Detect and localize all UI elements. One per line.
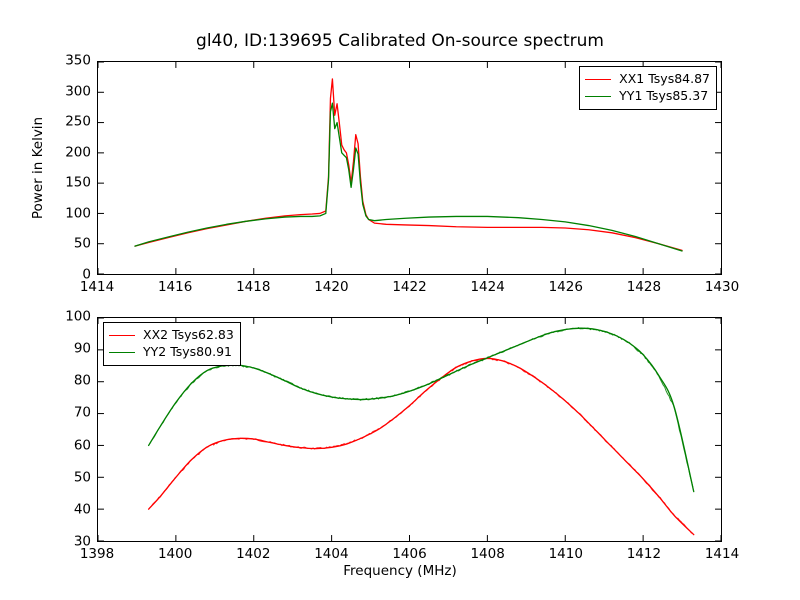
x-tick-label: 1400 xyxy=(145,548,205,562)
x-tick-label: 1430 xyxy=(692,281,752,295)
x-tick-label: 1402 xyxy=(223,548,283,562)
y-tick-label: 200 xyxy=(45,146,91,160)
bottom-panel-legend: XX2 Tsys62.83YY2 Tsys80.91 xyxy=(103,322,241,366)
x-tick-label: 1422 xyxy=(380,281,440,295)
x-tick-label: 1418 xyxy=(223,281,283,295)
figure-title: gl40, ID:139695 Calibrated On-source spe… xyxy=(0,31,800,51)
y-tick-label: 300 xyxy=(45,85,91,99)
x-tick-label: 1414 xyxy=(692,548,752,562)
x-tick-label: 1424 xyxy=(458,281,518,295)
bottom-panel-xlabel: Frequency (MHz) xyxy=(0,563,800,579)
y-tick-label: 90 xyxy=(45,342,91,356)
x-tick-label: 1406 xyxy=(380,548,440,562)
top-panel-ylabel: Power in Kelvin xyxy=(30,78,46,258)
y-tick-label: 60 xyxy=(45,439,91,453)
y-tick-label: 70 xyxy=(45,407,91,421)
legend-color-swatch xyxy=(109,335,135,336)
y-tick-label: 80 xyxy=(45,375,91,389)
x-tick-label: 1426 xyxy=(536,281,596,295)
x-tick-label: 1410 xyxy=(536,548,596,562)
legend-color-swatch xyxy=(585,79,611,80)
legend-entry[interactable]: XX2 Tsys62.83 xyxy=(109,327,234,344)
x-tick-label: 1428 xyxy=(614,281,674,295)
legend-entry[interactable]: XX1 Tsys84.87 xyxy=(585,71,710,88)
legend-label: XX1 Tsys84.87 xyxy=(619,73,710,86)
y-tick-label: 50 xyxy=(45,471,91,485)
x-tick-label: 1420 xyxy=(301,281,361,295)
x-tick-label: 1404 xyxy=(301,548,361,562)
legend-entry[interactable]: YY2 Tsys80.91 xyxy=(109,344,234,361)
y-tick-label: 50 xyxy=(45,238,91,252)
legend-label: XX2 Tsys62.83 xyxy=(143,329,234,342)
legend-label: YY2 Tsys80.91 xyxy=(143,346,232,359)
series-noise xyxy=(150,358,693,533)
legend-color-swatch xyxy=(585,96,611,97)
y-tick-label: 100 xyxy=(45,310,91,324)
x-tick-label: 1414 xyxy=(67,281,127,295)
top-panel-axes: XX1 Tsys84.87YY1 Tsys85.37 xyxy=(97,61,722,275)
x-tick-label: 1416 xyxy=(145,281,205,295)
y-tick-label: 150 xyxy=(45,177,91,191)
y-tick-label: 350 xyxy=(45,54,91,68)
y-tick-label: 30 xyxy=(45,535,91,549)
y-tick-label: 250 xyxy=(45,115,91,129)
figure-canvas: gl40, ID:139695 Calibrated On-source spe… xyxy=(0,0,800,600)
bottom-panel-axes: XX2 Tsys62.83YY2 Tsys80.91 xyxy=(97,317,722,542)
y-tick-label: 40 xyxy=(45,503,91,517)
y-tick-label: 0 xyxy=(45,268,91,282)
top-panel-legend: XX1 Tsys84.87YY1 Tsys85.37 xyxy=(579,66,717,110)
legend-label: YY1 Tsys85.37 xyxy=(619,90,708,103)
series-line xyxy=(135,103,682,251)
legend-color-swatch xyxy=(109,352,135,353)
x-tick-label: 1412 xyxy=(614,548,674,562)
legend-entry[interactable]: YY1 Tsys85.37 xyxy=(585,88,710,105)
x-tick-label: 1408 xyxy=(458,548,518,562)
y-tick-label: 100 xyxy=(45,207,91,221)
x-tick-label: 1398 xyxy=(67,548,127,562)
